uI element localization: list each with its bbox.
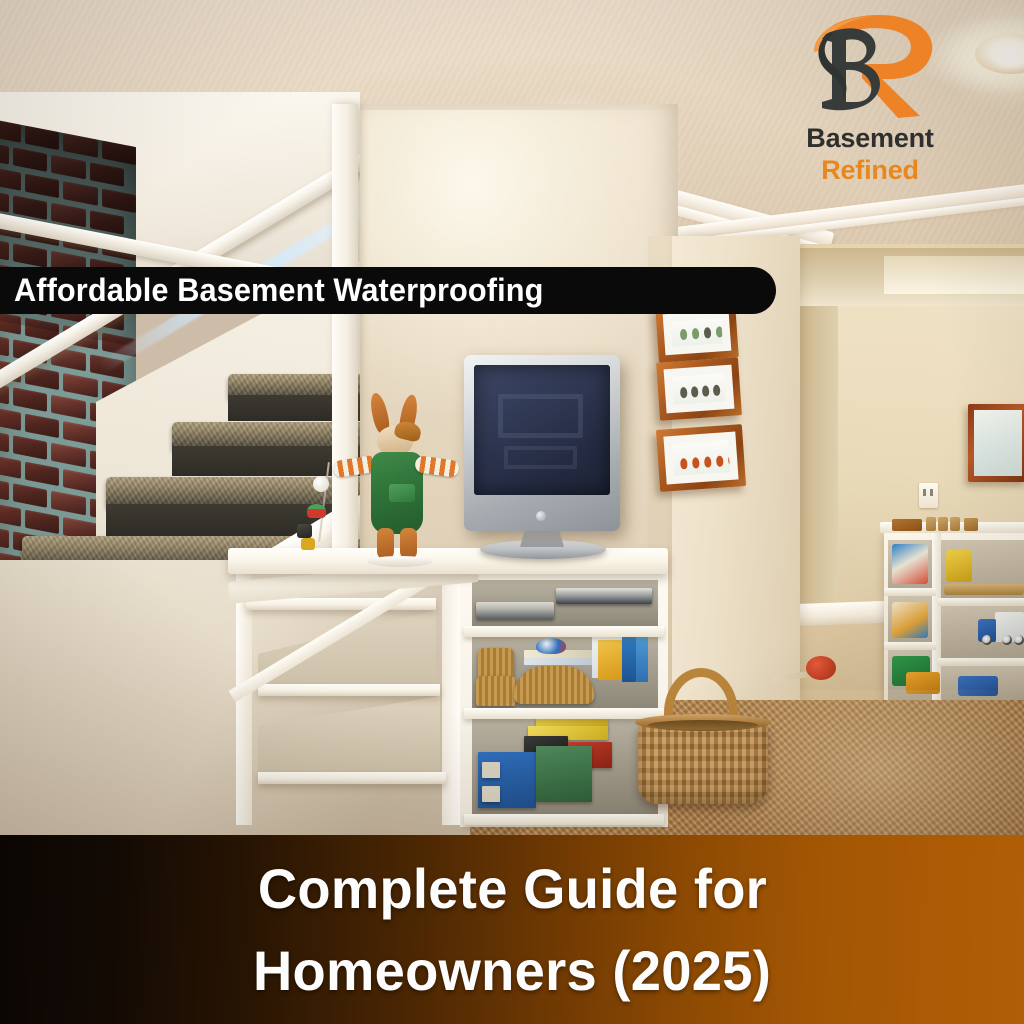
console-shelf bbox=[464, 814, 664, 825]
red-toy-ball bbox=[806, 656, 836, 680]
board-games bbox=[892, 544, 928, 584]
logo-text-primary: Basement bbox=[770, 125, 970, 152]
bunny-doll-decoration bbox=[345, 392, 445, 562]
doll-charm bbox=[301, 538, 315, 550]
framed-picture bbox=[656, 357, 742, 421]
small-basket bbox=[476, 676, 516, 706]
doll-charm bbox=[307, 504, 326, 518]
puzzle-label bbox=[482, 786, 500, 802]
shelf-side-panel bbox=[442, 560, 460, 825]
book bbox=[636, 630, 648, 682]
wicker-tray bbox=[514, 666, 594, 704]
angled-shelf bbox=[258, 772, 446, 784]
basket-interior bbox=[648, 720, 758, 730]
far-framed-picture bbox=[968, 404, 1024, 482]
far-room-column bbox=[800, 306, 838, 606]
doll-charm bbox=[313, 476, 329, 492]
puzzle-box bbox=[892, 602, 928, 638]
framed-picture bbox=[656, 424, 746, 492]
bottom-title-band: Complete Guide for Homeowners (2025) bbox=[0, 835, 1024, 1024]
bottom-title-line2: Homeowners (2025) bbox=[253, 942, 771, 999]
ball-toy bbox=[536, 638, 566, 654]
tv-brand-logo-icon bbox=[536, 511, 546, 521]
wooden-tray bbox=[944, 584, 1024, 595]
bottom-title-line1: Complete Guide for bbox=[257, 860, 766, 917]
wicker-basket bbox=[638, 690, 768, 810]
book bbox=[622, 632, 636, 682]
dvd-player bbox=[556, 588, 652, 604]
wooden-train-toy bbox=[892, 519, 922, 531]
tv-screen bbox=[474, 365, 610, 495]
logo-text-secondary: Refined bbox=[770, 157, 970, 184]
puzzle-label bbox=[482, 762, 500, 778]
vcr-player bbox=[476, 602, 554, 619]
headline-banner-label: Affordable Basement Waterproofing bbox=[14, 272, 543, 309]
puzzle-box bbox=[536, 746, 592, 802]
br-monogram-icon bbox=[770, 12, 970, 124]
headline-banner: Affordable Basement Waterproofing bbox=[0, 267, 776, 314]
brand-logo[interactable]: Basement Refined bbox=[770, 12, 970, 184]
doll-charm bbox=[297, 524, 312, 538]
small-basket bbox=[478, 648, 514, 678]
electrical-outlet-icon bbox=[919, 483, 938, 508]
console-shelf bbox=[464, 626, 664, 637]
yellow-container bbox=[946, 550, 972, 582]
toy-truck bbox=[978, 612, 1024, 642]
poster-canvas: Basement Refined Affordable Basement Wat… bbox=[0, 0, 1024, 1024]
flat-screen-tv bbox=[464, 355, 620, 531]
angled-shelf bbox=[258, 684, 440, 696]
room-soffit-upper bbox=[884, 256, 1024, 294]
console-shelf bbox=[464, 708, 664, 719]
